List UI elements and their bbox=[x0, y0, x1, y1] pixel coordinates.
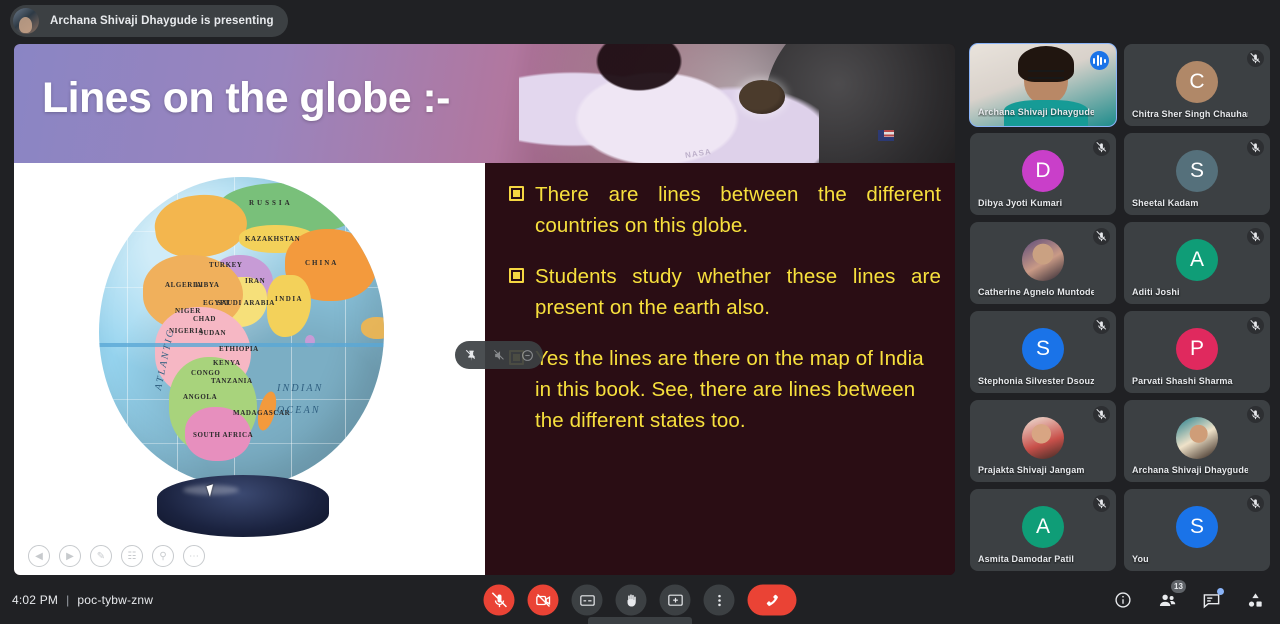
avatar bbox=[1022, 417, 1064, 459]
chat-icon[interactable] bbox=[1200, 589, 1222, 611]
camera-off-button[interactable] bbox=[528, 585, 559, 616]
mic-off-icon bbox=[1093, 406, 1110, 423]
avatar bbox=[1176, 417, 1218, 459]
list-item: There are lines between the different co… bbox=[509, 179, 941, 241]
mic-off-icon bbox=[1093, 139, 1110, 156]
slide-body: RUSSIA KAZAKHSTAN CHINA TURKEY IRAN INDI… bbox=[14, 163, 955, 575]
participant-name: Sheetal Kadam bbox=[1132, 198, 1248, 208]
mic-off-icon bbox=[1093, 317, 1110, 334]
raise-hand-button[interactable] bbox=[616, 585, 647, 616]
meet-window: Archana Shivaji Dhaygude is presenting N… bbox=[0, 0, 1280, 624]
mic-off-icon bbox=[1247, 406, 1264, 423]
mic-off-icon bbox=[1247, 139, 1264, 156]
meeting-code: poc-tybw-znw bbox=[77, 593, 153, 607]
checkbox-bullet-icon bbox=[509, 186, 524, 201]
separator: | bbox=[66, 593, 69, 607]
participant-tile[interactable]: Archana Shivaji Dhaygude bbox=[1124, 400, 1270, 482]
pen-icon[interactable]: ✎ bbox=[90, 545, 112, 567]
presentation-slide: NASA Lines on the globe :- bbox=[14, 44, 955, 575]
slideshow-controls[interactable]: ◀ ▶ ✎ ☷ ⚲ ⋯ bbox=[28, 545, 205, 567]
leave-call-button[interactable] bbox=[748, 585, 797, 616]
present-screen-button[interactable] bbox=[660, 585, 691, 616]
next-slide-icon[interactable]: ▶ bbox=[59, 545, 81, 567]
participant-tile[interactable]: A Asmita Damodar Patil bbox=[970, 489, 1116, 571]
avatar bbox=[1022, 239, 1064, 281]
meeting-details-icon[interactable] bbox=[1112, 589, 1134, 611]
mic-off-icon bbox=[1247, 228, 1264, 245]
avatar: C bbox=[1176, 61, 1218, 103]
participant-tile[interactable]: Prajakta Shivaji Jangam bbox=[970, 400, 1116, 482]
participant-name: Archana Shivaji Dhaygude bbox=[1132, 465, 1248, 475]
avatar bbox=[13, 8, 39, 34]
minimize-icon[interactable] bbox=[517, 345, 537, 365]
checkbox-bullet-icon bbox=[509, 268, 524, 283]
participant-tile[interactable]: P Parvati Shashi Sharma bbox=[1124, 311, 1270, 393]
more-options-icon[interactable]: ⋯ bbox=[183, 545, 205, 567]
participant-tile[interactable]: A Aditi Joshi bbox=[1124, 222, 1270, 304]
participant-name: Catherine Agnelo Muntode bbox=[978, 287, 1094, 297]
current-time: 4:02 PM bbox=[12, 593, 58, 607]
microphone-off-button[interactable] bbox=[484, 585, 515, 616]
bullet-list: There are lines between the different co… bbox=[509, 179, 941, 456]
participant-tile[interactable]: S Sheetal Kadam bbox=[1124, 133, 1270, 215]
captions-button[interactable] bbox=[572, 585, 603, 616]
presenting-label: Archana Shivaji Dhaygude is presenting bbox=[50, 15, 274, 27]
taskbar-handle[interactable] bbox=[588, 617, 692, 624]
participant-tile[interactable]: S Stephonia Silvester Dsouza bbox=[970, 311, 1116, 393]
participant-grid[interactable]: Archana Shivaji Dhaygude C Chitra Sher S… bbox=[968, 42, 1274, 576]
flag-patch-icon bbox=[878, 130, 894, 141]
participant-count-badge: 13 bbox=[1171, 580, 1186, 593]
more-options-button[interactable] bbox=[704, 585, 735, 616]
participant-name: Prajakta Shivaji Jangam bbox=[978, 465, 1094, 475]
bottom-control-bar: 4:02 PM | poc-tybw-znw bbox=[0, 576, 1280, 624]
mic-off-icon bbox=[1247, 317, 1264, 334]
globe-stand bbox=[157, 475, 329, 537]
participant-tile[interactable]: D Dibya Jyoti Kumari bbox=[970, 133, 1116, 215]
mic-off-icon bbox=[1247, 50, 1264, 67]
shared-screen-stage[interactable]: NASA Lines on the globe :- bbox=[14, 44, 955, 575]
participant-tile[interactable]: Catherine Agnelo Muntode bbox=[970, 222, 1116, 304]
participant-tile[interactable]: C Chitra Sher Singh Chauhan bbox=[1124, 44, 1270, 126]
list-item: Students study whether these lines are p… bbox=[509, 261, 941, 323]
avatar: A bbox=[1022, 506, 1064, 548]
avatar: S bbox=[1176, 150, 1218, 192]
participant-name: Aditi Joshi bbox=[1132, 287, 1248, 297]
participant-name: Chitra Sher Singh Chauhan bbox=[1132, 109, 1248, 119]
mic-off-icon bbox=[1093, 495, 1110, 512]
right-panel-controls[interactable]: 13 bbox=[1112, 589, 1266, 611]
previous-slide-icon[interactable]: ◀ bbox=[28, 545, 50, 567]
participant-name: Asmita Damodar Patil bbox=[978, 554, 1094, 564]
participant-name: Stephonia Silvester Dsouza bbox=[978, 376, 1094, 386]
show-everyone-icon[interactable]: 13 bbox=[1156, 589, 1178, 611]
stage-hover-toolbar[interactable] bbox=[455, 341, 543, 369]
zoom-icon[interactable]: ⚲ bbox=[152, 545, 174, 567]
slide-text-panel: There are lines between the different co… bbox=[485, 163, 955, 575]
globe-illustration: RUSSIA KAZAKHSTAN CHINA TURKEY IRAN INDI… bbox=[69, 177, 429, 547]
avatar: S bbox=[1022, 328, 1064, 370]
mic-off-icon bbox=[1093, 228, 1110, 245]
presenting-topbar: Archana Shivaji Dhaygude is presenting bbox=[0, 0, 1280, 42]
avatar: A bbox=[1176, 239, 1218, 281]
participant-tile-self[interactable]: S You bbox=[1124, 489, 1270, 571]
participant-name: Archana Shivaji Dhaygude bbox=[978, 107, 1094, 117]
globe-image-panel: RUSSIA KAZAKHSTAN CHINA TURKEY IRAN INDI… bbox=[14, 163, 485, 575]
mute-speaker-icon[interactable] bbox=[489, 345, 509, 365]
speaking-indicator-icon bbox=[1090, 51, 1109, 70]
avatar: D bbox=[1022, 150, 1064, 192]
list-item: Yes the lines are there on the map of In… bbox=[509, 343, 941, 436]
avatar: S bbox=[1176, 506, 1218, 548]
participant-name: Parvati Shashi Sharma bbox=[1132, 376, 1248, 386]
slides-grid-icon[interactable]: ☷ bbox=[121, 545, 143, 567]
participant-tile[interactable]: Archana Shivaji Dhaygude bbox=[970, 44, 1116, 126]
avatar: P bbox=[1176, 328, 1218, 370]
astronaut-visor bbox=[739, 80, 785, 114]
presenting-banner[interactable]: Archana Shivaji Dhaygude is presenting bbox=[10, 5, 288, 37]
chat-unread-dot bbox=[1217, 588, 1224, 595]
bullet-text: Students study whether these lines are p… bbox=[535, 261, 941, 323]
slide-title: Lines on the globe :- bbox=[42, 74, 450, 123]
call-controls[interactable] bbox=[484, 585, 797, 616]
meeting-info: 4:02 PM | poc-tybw-znw bbox=[12, 593, 153, 607]
slide-header-banner: NASA Lines on the globe :- bbox=[14, 44, 955, 163]
globe-sphere: RUSSIA KAZAKHSTAN CHINA TURKEY IRAN INDI… bbox=[99, 177, 384, 487]
pin-off-icon[interactable] bbox=[461, 345, 481, 365]
activities-icon[interactable] bbox=[1244, 589, 1266, 611]
bullet-text: Yes the lines are there on the map of In… bbox=[535, 343, 941, 436]
bullet-text: There are lines between the different co… bbox=[535, 179, 941, 241]
mic-off-icon bbox=[1247, 495, 1264, 512]
participant-name: You bbox=[1132, 554, 1248, 564]
participant-name: Dibya Jyoti Kumari bbox=[978, 198, 1094, 208]
